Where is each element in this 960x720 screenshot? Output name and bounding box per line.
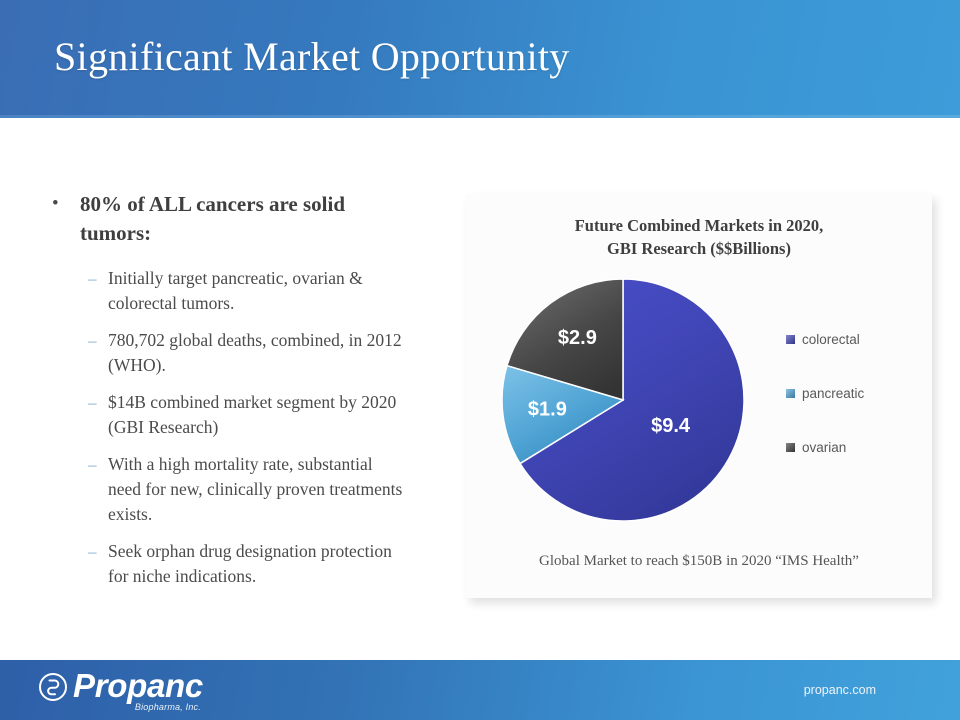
pie-label-ovarian: $2.9 [558, 327, 597, 349]
pie-chart-svg: $9.4 $1.9 $2.9 [500, 277, 746, 523]
chart-title: Future Combined Markets in 2020, GBI Res… [466, 214, 932, 260]
legend-label-colorectal: colorectal [802, 332, 860, 347]
slide-header-band: Significant Market Opportunity [0, 0, 960, 118]
lead-bullet-text: 80% of ALL cancers are solid tumors: [66, 190, 385, 248]
chart-footnote: Global Market to reach $150B in 2020 “IM… [466, 553, 932, 570]
legend-label-ovarian: ovarian [802, 440, 846, 455]
list-item: – $14B combined market segment by 2020 (… [44, 390, 444, 440]
page-title: Significant Market Opportunity [54, 33, 570, 80]
dash-icon: – [88, 452, 108, 478]
list-item: – 780,702 global deaths, combined, in 20… [44, 328, 444, 378]
list-item-text: $14B combined market segment by 2020 (GB… [108, 390, 408, 440]
propanc-circle-icon [38, 672, 68, 707]
list-item-text: Initially target pancreatic, ovarian & c… [108, 266, 408, 316]
pie-label-colorectal: $9.4 [651, 415, 691, 437]
lead-bullet-item: • 80% of ALL cancers are solid tumors: [44, 190, 444, 248]
legend-label-pancreatic: pancreatic [802, 386, 864, 401]
bullet-dot-icon: • [44, 190, 66, 218]
list-item: – Seek orphan drug designation protectio… [44, 539, 444, 589]
pie-chart: $9.4 $1.9 $2.9 [500, 277, 746, 523]
chart-card: Future Combined Markets in 2020, GBI Res… [466, 194, 932, 598]
legend-swatch-colorectal [786, 335, 795, 344]
list-item-text: Seek orphan drug designation protection … [108, 539, 408, 589]
legend-item-colorectal[interactable]: colorectal [786, 312, 926, 366]
brand-wordmark: Propanc Biopharma, Inc. [73, 669, 203, 702]
pie-label-pancreatic: $1.9 [528, 398, 567, 420]
list-item: – With a high mortality rate, substantia… [44, 452, 444, 527]
chart-title-line-1: Future Combined Markets in 2020, [466, 214, 932, 237]
dash-icon: – [88, 390, 108, 416]
bullet-list: • 80% of ALL cancers are solid tumors: –… [44, 190, 444, 601]
legend-swatch-pancreatic [786, 389, 795, 398]
chart-legend: colorectal pancreatic ovarian [786, 312, 926, 474]
chart-title-line-2: GBI Research ($$Billions) [466, 237, 932, 260]
legend-item-pancreatic[interactable]: pancreatic [786, 366, 926, 420]
list-item-text: With a high mortality rate, substantial … [108, 452, 408, 527]
legend-item-ovarian[interactable]: ovarian [786, 420, 926, 474]
list-item: – Initially target pancreatic, ovarian &… [44, 266, 444, 316]
list-item-text: 780,702 global deaths, combined, in 2012… [108, 328, 408, 378]
dash-icon: – [88, 266, 108, 292]
brand-tagline: Biopharma, Inc. [135, 702, 201, 712]
legend-swatch-ovarian [786, 443, 795, 452]
footer-website-link[interactable]: propanc.com [804, 683, 876, 697]
dash-icon: – [88, 328, 108, 354]
brand-name: Propanc [73, 667, 203, 704]
brand-logo[interactable]: Propanc Biopharma, Inc. [38, 669, 203, 707]
slide-footer-band: Propanc Biopharma, Inc. propanc.com [0, 660, 960, 720]
dash-icon: – [88, 539, 108, 565]
